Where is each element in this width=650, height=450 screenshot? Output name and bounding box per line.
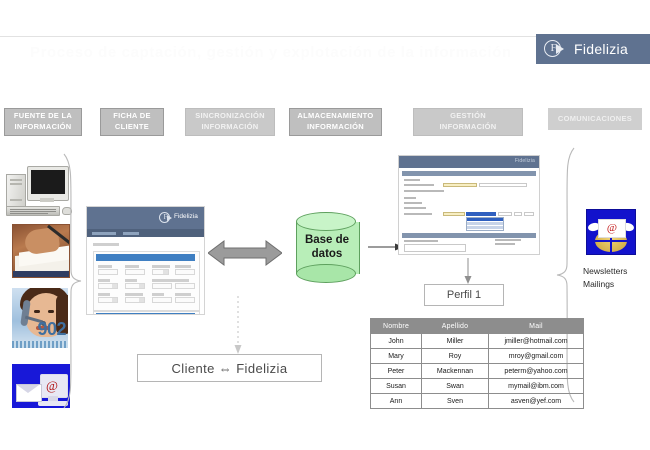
cell-nombre: Susan xyxy=(371,379,422,394)
fidelizia-mark-icon: F xyxy=(544,40,563,59)
cell-nombre: Ann xyxy=(371,394,422,409)
newsletter-email-globe-icon: @ xyxy=(586,209,636,255)
column-header-mail: Mail xyxy=(489,319,584,334)
management-logo-text: Fidelizia xyxy=(515,158,535,164)
cliente-fidelizia-box[interactable]: Cliente ⇔ Fidelizia xyxy=(137,354,322,382)
cell-mail: mymail@ibm.com xyxy=(489,379,584,394)
communications-caption: Newsletters Mailings xyxy=(583,265,645,291)
database-cylinder: Base de datos xyxy=(296,212,358,284)
column-header-apellido: Apellido xyxy=(422,319,489,334)
cell-mail: jmiller@hotmail.com xyxy=(489,334,584,349)
stage-label-gestion: GESTIÓN INFORMACIÓN xyxy=(413,108,523,136)
stage-label-comunicaciones: COMUNICACIONES xyxy=(548,108,642,130)
form-logo-text: Fidelizia xyxy=(174,213,198,220)
cell-mail: asven@yef.com xyxy=(489,394,584,409)
stage-label-ficha: FICHA DE CLIENTE xyxy=(100,108,164,136)
cell-mail: mroy@gmail.com xyxy=(489,349,584,364)
cell-nombre: Mary xyxy=(371,349,422,364)
page-title: Proceso de captación, gestión y explotac… xyxy=(30,44,510,66)
communications-line1: Newsletters xyxy=(583,265,645,278)
table-row: Ann Sven asven@yef.com xyxy=(371,394,584,409)
fidelizia-logo-text: Fidelizia xyxy=(574,41,628,57)
form-to-cliente-dotted-arrow-icon xyxy=(232,296,244,354)
management-screenshot[interactable]: Fidelizia xyxy=(398,155,540,255)
cell-nombre: John xyxy=(371,334,422,349)
sync-double-arrow-icon xyxy=(208,238,282,268)
database-label-line1: Base de xyxy=(296,234,358,248)
fidelizia-logo: F Fidelizia xyxy=(536,34,650,64)
stage-label-almacenamiento: ALMACENAMIENTO INFORMACIÓN xyxy=(289,108,382,136)
cell-apellido: Roy xyxy=(422,349,489,364)
stage-label-sincronizacion: SINCRONIZACIÓN INFORMACIÓN xyxy=(185,108,275,136)
table-row: John Miller jmiller@hotmail.com xyxy=(371,334,584,349)
cell-nombre: Peter xyxy=(371,364,422,379)
cell-apellido: Sven xyxy=(422,394,489,409)
contacts-table: Nombre Apellido Mail John Miller jmiller… xyxy=(370,318,584,409)
database-label-line2: datos xyxy=(296,248,358,262)
management-to-perfil-arrow-icon xyxy=(462,258,474,284)
diagram-canvas: Proceso de captación, gestión y explotac… xyxy=(0,0,650,450)
cell-mail: peterm@yahoo.com xyxy=(489,364,584,379)
table-row: Susan Swan mymail@ibm.com xyxy=(371,379,584,394)
client-form-screenshot[interactable]: F Fidelizia xyxy=(86,206,205,315)
table-row: Peter Mackennan peterm@yahoo.com xyxy=(371,364,584,379)
cell-apellido: Swan xyxy=(422,379,489,394)
table-header-row: Nombre Apellido Mail xyxy=(371,319,584,334)
management-dropdown-open[interactable] xyxy=(466,217,504,231)
cell-apellido: Mackennan xyxy=(422,364,489,379)
sources-grouping-brace xyxy=(60,152,84,410)
perfil-box[interactable]: Perfil 1 xyxy=(424,284,504,306)
cell-apellido: Miller xyxy=(422,334,489,349)
stage-label-fuente: FUENTE DE LA INFORMACIÓN xyxy=(4,108,82,136)
table-row: Mary Roy mroy@gmail.com xyxy=(371,349,584,364)
column-header-nombre: Nombre xyxy=(371,319,422,334)
communications-line2: Mailings xyxy=(583,278,645,291)
form-fidelizia-logo: F Fidelizia xyxy=(159,212,199,224)
